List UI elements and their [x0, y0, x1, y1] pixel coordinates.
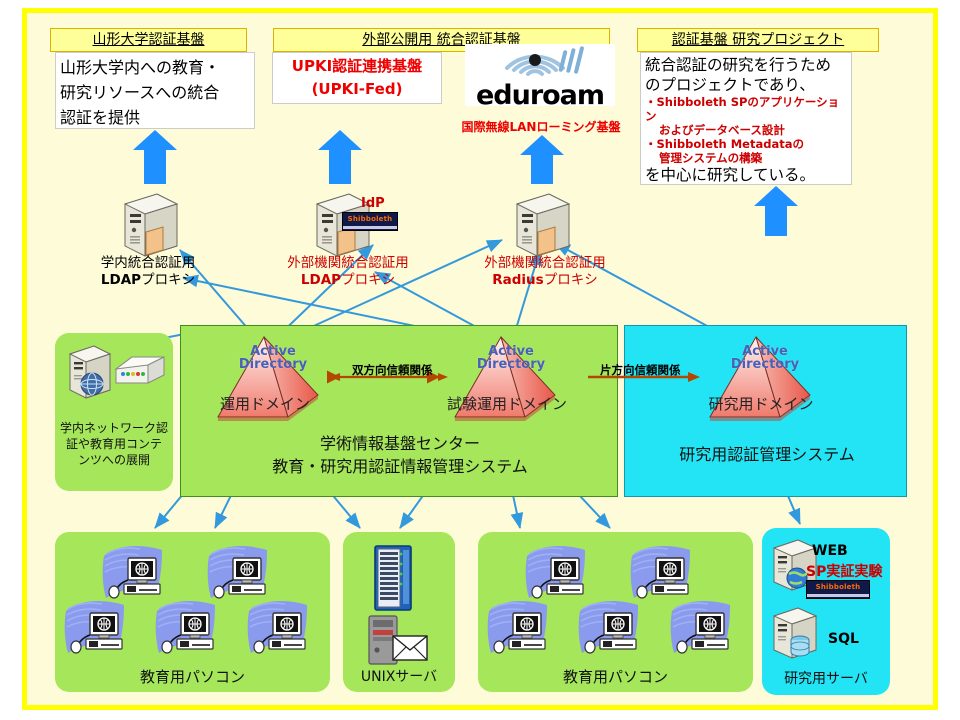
- sp-tag: SP実証実験: [806, 561, 882, 581]
- pc-icon: [153, 597, 231, 663]
- yamagata-line-2: 研究リソースへの統合: [60, 80, 250, 105]
- device-group-research-title: 研究用サーバ: [762, 668, 890, 688]
- center-title-2: 教育・研究用認証情報管理システム: [200, 455, 600, 478]
- netauth-line-3: ンツへの展開: [53, 452, 175, 468]
- eduroam-wordmark: eduroam: [465, 82, 615, 110]
- project-lead-1: 統合認証の研究を行うため: [645, 55, 847, 75]
- pc-icon: [576, 597, 654, 663]
- trust-label-unidirectional: 片方向信頼関係: [600, 362, 681, 378]
- project-lead-2: のプロジェクトであり、: [645, 75, 847, 95]
- project-bullet-3: ・Shibboleth Metadataの: [645, 137, 847, 151]
- pc-icon: [485, 597, 563, 663]
- operational-domain-name: 運用ドメイン: [190, 393, 340, 414]
- pc-icon: [668, 597, 746, 663]
- test-active-directory-label: Active Directory: [456, 345, 566, 371]
- test-ad-2: Directory: [456, 358, 566, 371]
- pc-icon: [245, 597, 323, 663]
- device-group-pc2-title: 教育用パソコン: [478, 666, 753, 687]
- sql-tag: SQL: [828, 631, 859, 647]
- section-tab-project-label: 認証基盤 研究プロジェクト: [672, 32, 844, 48]
- pc-icon: [62, 597, 140, 663]
- project-tail: を中心に研究している。: [645, 165, 847, 185]
- ldap-external-label-2b: プロキシ: [341, 272, 395, 288]
- device-group-pc1-title: 教育用パソコン: [55, 666, 330, 687]
- trust-label-bidirectional: 双方向信頼関係: [352, 362, 433, 378]
- op-ad-2: Directory: [218, 358, 328, 371]
- test-domain-name: 試験運用ドメイン: [432, 393, 582, 414]
- section-tab-yamagata-label: 山形大学認証基盤: [93, 32, 205, 48]
- eduroam-wifi-icon: [465, 44, 615, 78]
- panel-yamagata-description: 山形大学内への教育・ 研究リソースへの統合 認証を提供: [55, 52, 255, 129]
- desktop-mail-server-icon: [365, 612, 431, 672]
- operational-active-directory-label: Active Directory: [218, 345, 328, 371]
- shibboleth-badge-label: Shibboleth: [816, 583, 861, 591]
- project-bullet-2: およびデータベース設計: [645, 123, 847, 137]
- radius-external-label-2a: Radius: [492, 272, 543, 288]
- yamagata-line-3: 認証を提供: [60, 105, 250, 130]
- shibboleth-badge-label: Shibboleth: [348, 215, 393, 223]
- panel-eduroam-logo: eduroam: [465, 44, 615, 106]
- ldap-internal-label-2b: プロキシ: [141, 272, 195, 288]
- web-tag: WEB: [812, 543, 848, 559]
- server-radius-external-icon: [505, 190, 577, 264]
- shibboleth-badge: Shibboleth: [806, 580, 870, 599]
- ldap-internal-label-1: 学内統合認証用: [68, 255, 228, 272]
- upki-line-2: (UPKI-Fed): [273, 78, 441, 101]
- panel-upki-federation: UPKI認証連携基盤 (UPKI-Fed): [272, 52, 442, 104]
- radius-external-label-1: 外部機関統合認証用: [460, 255, 630, 272]
- radius-external-label-2b: プロキシ: [544, 272, 598, 288]
- eduroam-caption: 国際無線LANローミング基盤: [455, 118, 627, 135]
- research-active-directory-label: Active Directory: [710, 345, 820, 371]
- network-auth-title: 学内ネットワーク認 証や教育用コンテ ンツへの展開: [53, 420, 175, 468]
- server-ldap-internal-label: 学内統合認証用 LDAPプロキシ: [68, 255, 228, 289]
- research-system-title: 研究用認証管理システム: [634, 443, 900, 466]
- ldap-external-label-2a: LDAP: [301, 272, 341, 288]
- section-tab-project[interactable]: 認証基盤 研究プロジェクト: [637, 28, 879, 52]
- netauth-line-1: 学内ネットワーク認: [53, 420, 175, 436]
- netauth-line-2: 証や教育用コンテ: [53, 436, 175, 452]
- server-ldap-internal-icon: [113, 190, 185, 264]
- section-tab-yamagata[interactable]: 山形大学認証基盤: [50, 28, 247, 52]
- sql-server-icon: [766, 604, 828, 668]
- project-bullet-1: ・Shibboleth SPのアプリケーション: [645, 95, 847, 123]
- network-switch-icon: [112, 349, 168, 395]
- research-domain-name: 研究用ドメイン: [686, 393, 836, 414]
- rack-server-icon: [367, 542, 419, 618]
- center-system-title: 学術情報基盤センター 教育・研究用認証情報管理システム: [200, 432, 600, 478]
- server-radius-external-label: 外部機関統合認証用 Radiusプロキシ: [460, 255, 630, 289]
- center-title-1: 学術情報基盤センター: [200, 432, 600, 455]
- ldap-external-label-1: 外部機関統合認証用: [263, 255, 433, 272]
- shibboleth-badge: Shibboleth: [342, 212, 398, 231]
- idp-tag: IdP: [361, 196, 385, 211]
- diagram-canvas: 山形大学認証基盤 外部公開用 統合認証基盤 認証基盤 研究プロジェクト 山形大学…: [0, 0, 960, 720]
- server-ldap-external-label: 外部機関統合認証用 LDAPプロキシ: [263, 255, 433, 289]
- device-group-unix-title: UNIXサーバ: [343, 666, 455, 686]
- ldap-internal-label-2a: LDAP: [101, 272, 141, 288]
- upki-line-1: UPKI認証連携基盤: [273, 55, 441, 78]
- panel-project-description: 統合認証の研究を行うため のプロジェクトであり、 ・Shibboleth SPの…: [640, 52, 852, 185]
- project-bullet-4: 管理システムの構築: [645, 151, 847, 165]
- res-ad-2: Directory: [710, 358, 820, 371]
- yamagata-line-1: 山形大学内への教育・: [60, 55, 250, 80]
